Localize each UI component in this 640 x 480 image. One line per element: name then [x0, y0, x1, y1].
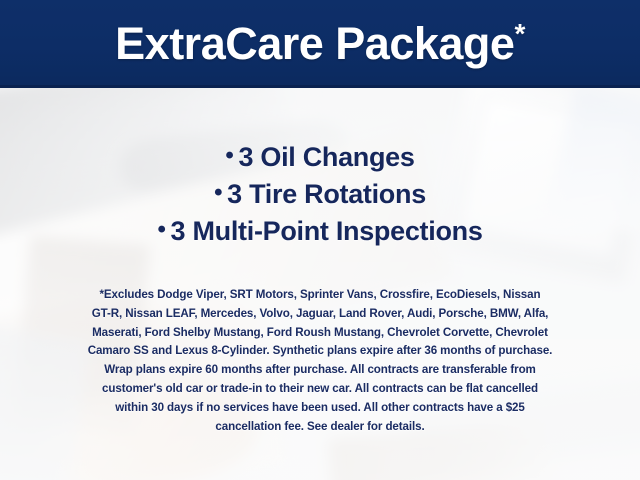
bullet-icon: •: [157, 216, 165, 243]
bullet-icon: •: [214, 179, 222, 206]
benefit-item-label: 3 Multi-Point Inspections: [171, 216, 483, 246]
benefit-item-label: 3 Tire Rotations: [227, 179, 426, 209]
page-title: ExtraCare Package*: [115, 20, 525, 66]
disclaimer-line: Camaro SS and Lexus 8-Cylinder. Syntheti…: [26, 342, 614, 361]
disclaimer-line: Wrap plans expire 60 months after purcha…: [26, 361, 614, 380]
benefit-item-label: 3 Oil Changes: [238, 142, 414, 172]
extracare-package-promo-card: ExtraCare Package* •3 Oil Changes •3 Tir…: [0, 0, 640, 480]
header-banner: ExtraCare Package*: [0, 0, 640, 88]
disclaimer-text: *Excludes Dodge Viper, SRT Motors, Sprin…: [26, 286, 614, 436]
benefit-item-oil-changes: •3 Oil Changes: [0, 138, 640, 175]
benefit-item-multi-point-inspections: •3 Multi-Point Inspections: [0, 212, 640, 249]
page-title-text: ExtraCare Package: [115, 18, 514, 69]
disclaimer-line: cancellation fee. See dealer for details…: [26, 418, 614, 437]
disclaimer-line: *Excludes Dodge Viper, SRT Motors, Sprin…: [26, 286, 614, 305]
disclaimer-line: GT-R, Nissan LEAF, Mercedes, Volvo, Jagu…: [26, 305, 614, 324]
disclaimer-line: customer's old car or trade-in to their …: [26, 380, 614, 399]
bullet-icon: •: [225, 142, 233, 169]
disclaimer-line: Maserati, Ford Shelby Mustang, Ford Rous…: [26, 324, 614, 343]
disclaimer-line: within 30 days if no services have been …: [26, 399, 614, 418]
benefit-item-tire-rotations: •3 Tire Rotations: [0, 175, 640, 212]
benefits-list: •3 Oil Changes •3 Tire Rotations •3 Mult…: [0, 138, 640, 249]
page-title-asterisk: *: [514, 18, 524, 49]
